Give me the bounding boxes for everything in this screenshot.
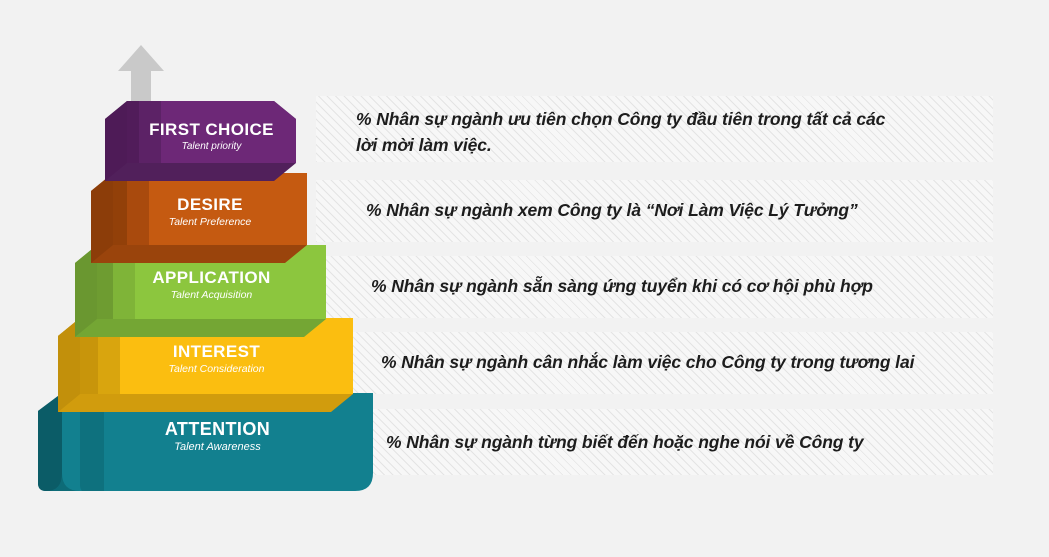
pyramid-level-first-choice[interactable]: FIRST CHOICE Talent priority [105, 93, 296, 181]
description-text-desire: % Nhân sự ngành xem Công ty là “Nơi Làm … [366, 197, 986, 223]
diagram-canvas: % Nhân sự ngành ưu tiên chọn Công ty đầu… [0, 0, 1049, 557]
pyramid-stack: ATTENTION Talent Awareness INTEREST Tale… [0, 0, 400, 557]
description-text-attention: % Nhân sự ngành từng biết đến hoặc nghe … [386, 429, 1006, 455]
description-text-interest: % Nhân sự ngành cân nhắc làm việc cho Cô… [381, 349, 1001, 375]
description-text-application: % Nhân sự ngành sẵn sàng ứng tuyển khi c… [371, 273, 991, 299]
pyramid-level-desire[interactable]: DESIRE Talent Preference [91, 173, 307, 263]
description-text-first-choice: % Nhân sự ngành ưu tiên chọn Công ty đầu… [356, 106, 976, 158]
